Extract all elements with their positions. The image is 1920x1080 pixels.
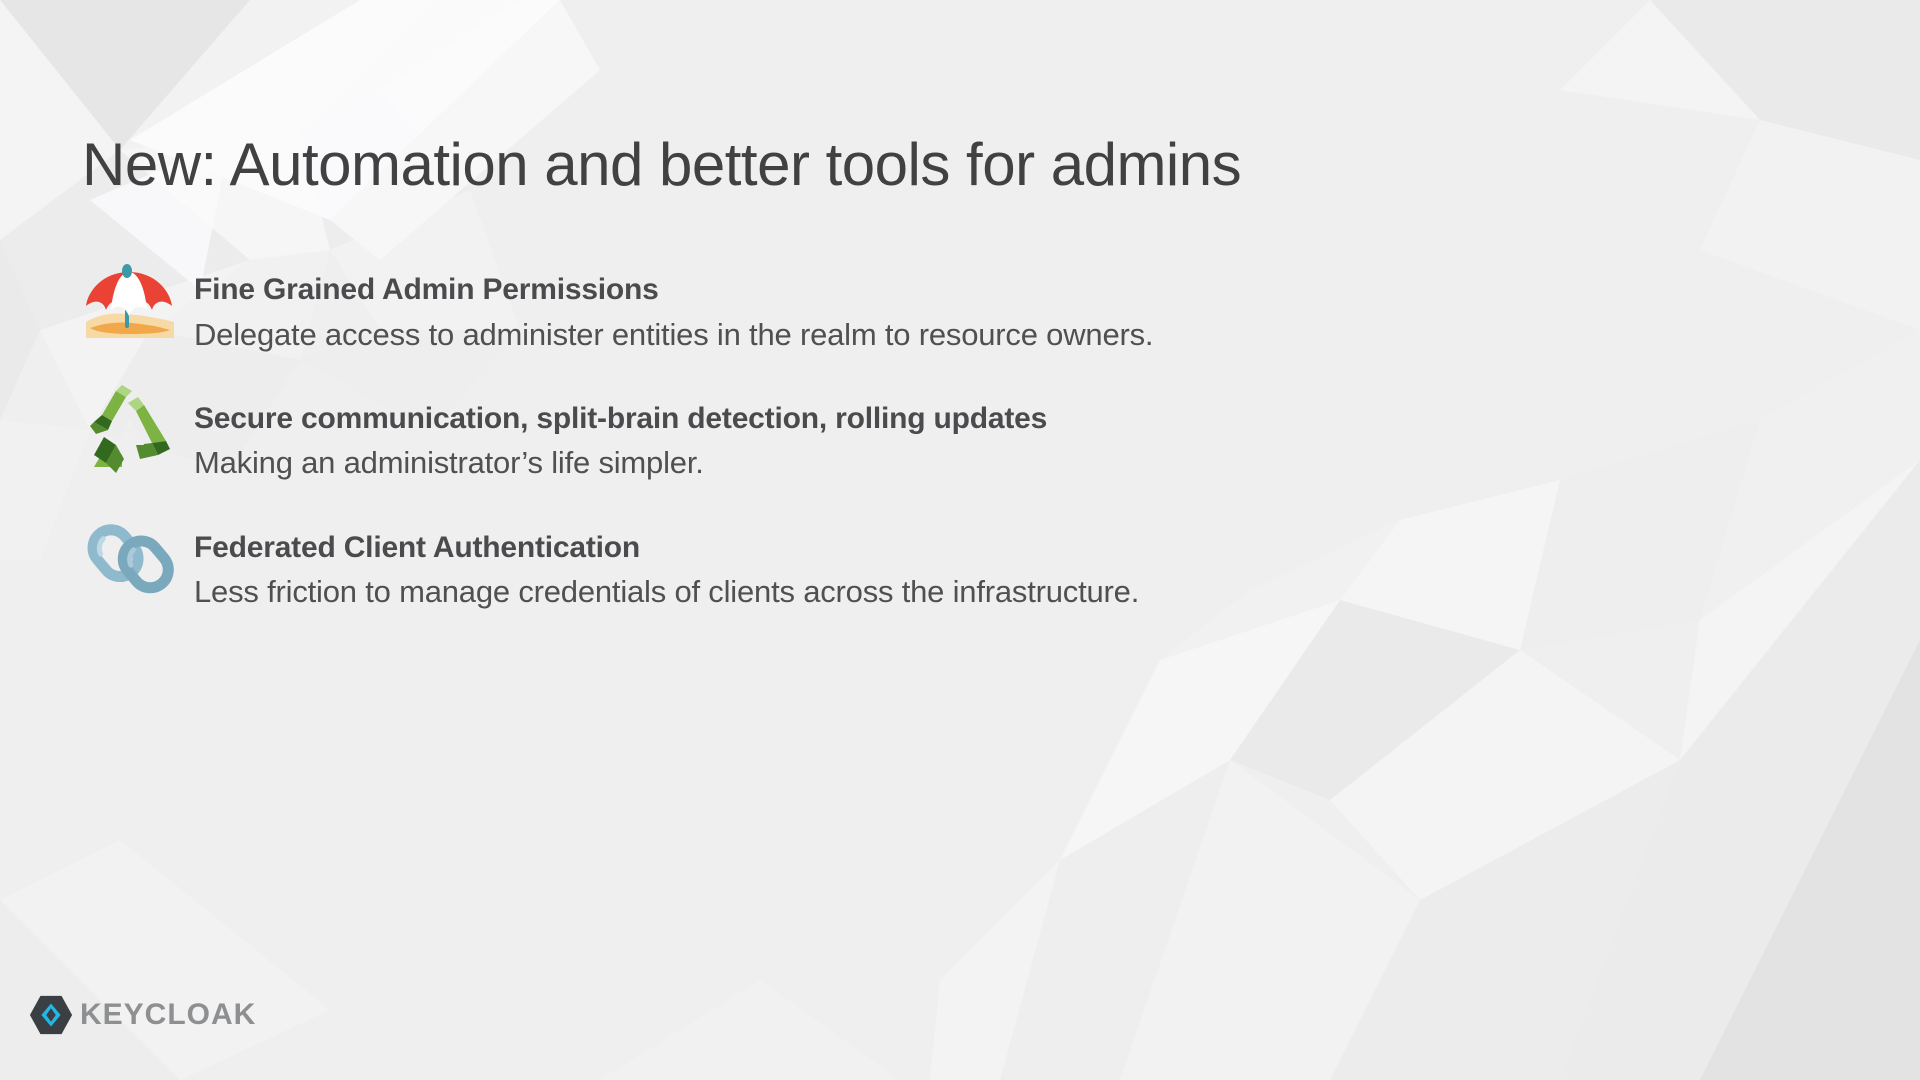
slide-title: New: Automation and better tools for adm…: [82, 130, 1241, 199]
list-item-description: Less friction to manage credentials of c…: [194, 572, 1139, 612]
list-item-heading: Secure communication, split-brain detect…: [194, 401, 1047, 438]
bullet-list: Fine Grained Admin Permissions Delegate …: [82, 252, 1782, 639]
recycling-symbol-icon: [82, 381, 178, 477]
list-item: Federated Client Authentication Less fri…: [82, 510, 1782, 613]
list-item-heading: Fine Grained Admin Permissions: [194, 272, 1153, 309]
list-item-description: Making an administrator’s life simpler.: [194, 443, 1047, 483]
list-item-description: Delegate access to administer entities i…: [194, 315, 1153, 355]
keycloak-logo-icon: [28, 992, 74, 1038]
list-item-text: Federated Client Authentication Less fri…: [194, 510, 1139, 613]
presentation-slide: New: Automation and better tools for adm…: [0, 0, 1920, 1080]
beach-with-umbrella-icon: [82, 250, 178, 346]
list-item-heading: Federated Client Authentication: [194, 530, 1139, 567]
list-item: Fine Grained Admin Permissions Delegate …: [82, 252, 1782, 355]
link-chain-icon: [82, 510, 178, 606]
keycloak-wordmark: KEYCLOAK: [80, 998, 256, 1032]
list-item-text: Secure communication, split-brain detect…: [194, 381, 1047, 484]
list-item-text: Fine Grained Admin Permissions Delegate …: [194, 252, 1153, 355]
keycloak-footer-logo: KEYCLOAK: [28, 992, 256, 1038]
list-item: Secure communication, split-brain detect…: [82, 381, 1782, 484]
